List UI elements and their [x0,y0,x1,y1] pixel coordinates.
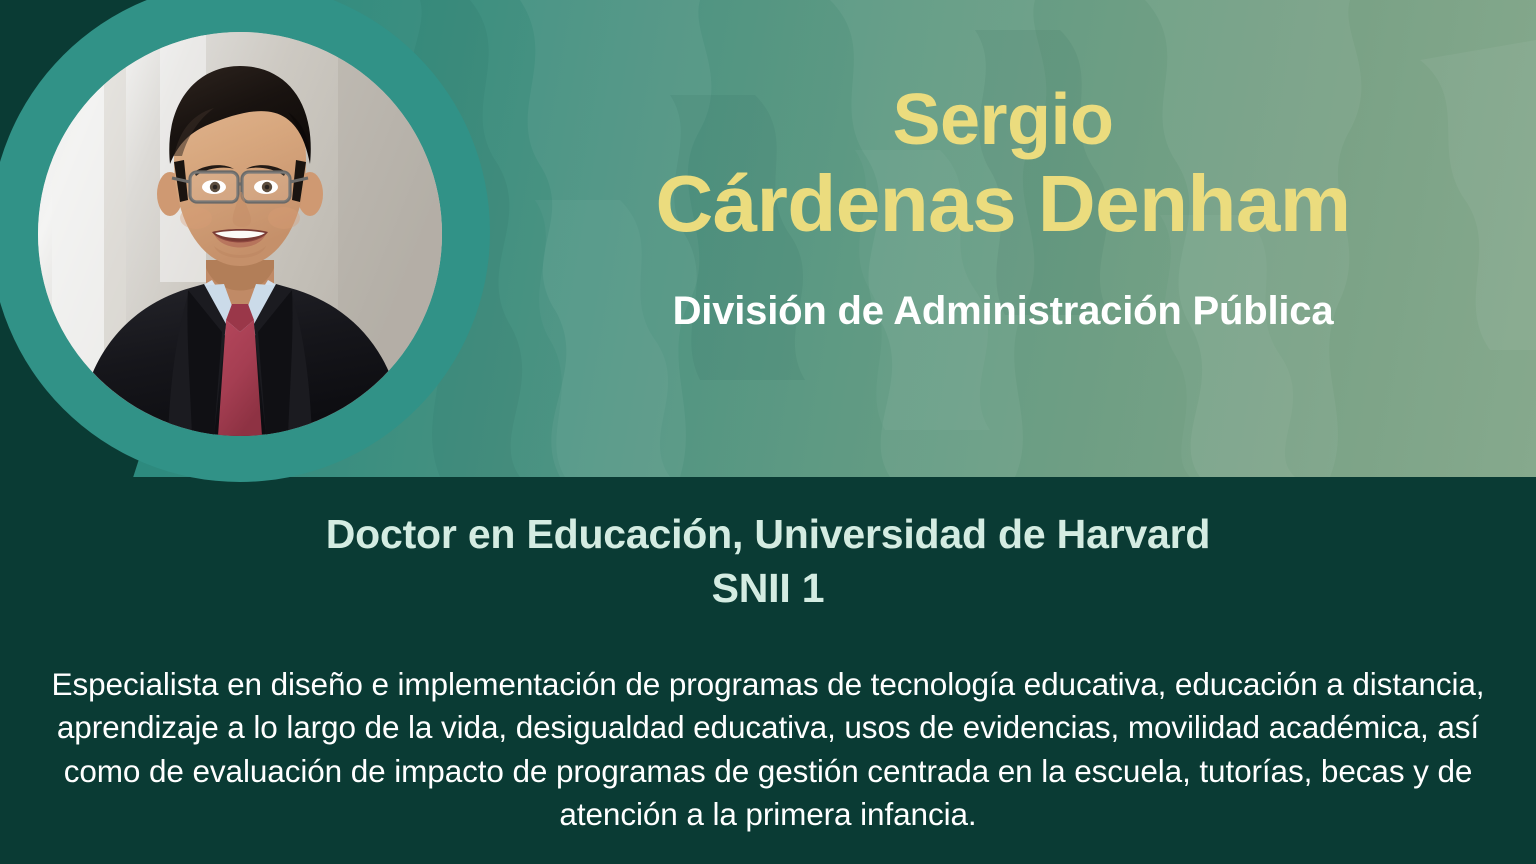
division-label: División de Administración Pública [673,289,1334,334]
person-photo-icon [38,32,442,436]
degree-line: Doctor en Educación, Universidad de Harv… [0,507,1536,561]
speaker-last-name: Cárdenas Denham [656,162,1351,247]
speaker-first-name: Sergio [892,82,1113,158]
speaker-profile-slide: Sergio Cárdenas Denham División de Admin… [0,0,1536,864]
credentials-block: Doctor en Educación, Universidad de Harv… [0,507,1536,615]
sni-line: SNII 1 [0,561,1536,615]
header-text-block: Sergio Cárdenas Denham División de Admin… [470,0,1536,477]
biography-paragraph: Especialista en diseño e implementación … [26,663,1510,837]
avatar [38,32,442,436]
lower-info-section: Doctor en Educación, Universidad de Harv… [0,477,1536,864]
